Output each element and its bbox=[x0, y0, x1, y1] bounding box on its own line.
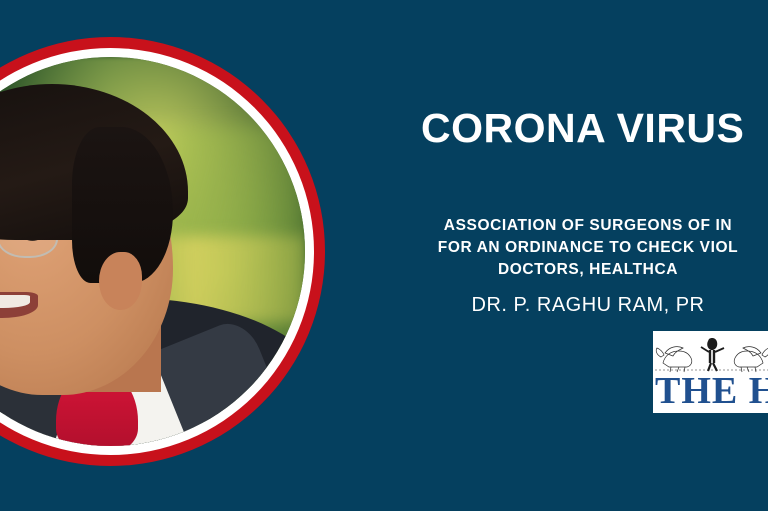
poster-attribution: DR. P. RAGHU RAM, PR bbox=[308, 294, 768, 317]
portrait-photo-dr-p-raghu-ram bbox=[0, 57, 305, 446]
subtitle-line-3: DOCTORS, HEALTHCA bbox=[308, 259, 768, 281]
the-hindu-crest-icon bbox=[653, 333, 768, 373]
portrait-ear bbox=[99, 252, 142, 310]
the-hindu-logo-plate: THE H bbox=[653, 331, 768, 413]
portrait-white-ring bbox=[0, 48, 314, 455]
portrait-red-ring bbox=[0, 37, 325, 466]
poster-subtitle: ASSOCIATION OF SURGEONS OF IN FOR AN ORD… bbox=[308, 215, 768, 281]
poster-canvas: CORONA VIRUS ASSOCIATION OF SURGEONS OF … bbox=[0, 0, 768, 511]
text-content-column: CORONA VIRUS ASSOCIATION OF SURGEONS OF … bbox=[360, 0, 768, 511]
the-hindu-wordmark: THE H bbox=[655, 371, 768, 411]
subtitle-line-1: ASSOCIATION OF SURGEONS OF IN bbox=[308, 215, 768, 237]
subtitle-line-2: FOR AN ORDINANCE TO CHECK VIOL bbox=[308, 237, 768, 259]
poster-headline: CORONA VIRUS bbox=[421, 108, 744, 149]
